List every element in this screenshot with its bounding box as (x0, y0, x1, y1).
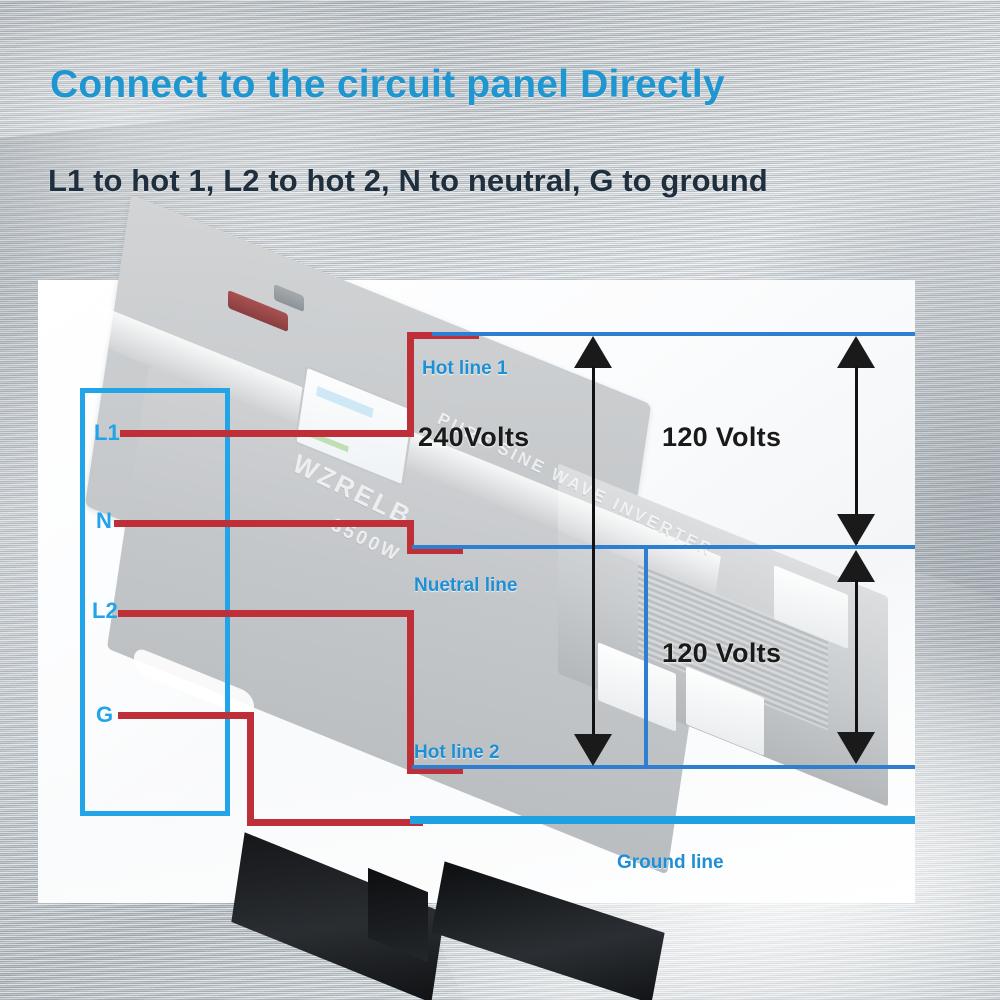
hot-line-2 (412, 765, 915, 769)
arrow-240v-down-head (574, 734, 612, 766)
arrow-120v-lower-up-head (837, 550, 875, 582)
arrow-120v-upper-down-head (837, 514, 875, 546)
terminal-label-l2: L2 (92, 598, 118, 624)
label-ground-line: Ground line (617, 852, 724, 874)
measurement-120-volts-lower: 120 Volts (662, 638, 781, 669)
wire-l1-vertical (407, 332, 414, 437)
wire-g-bottom (247, 819, 423, 826)
terminal-label-l1: L1 (94, 420, 120, 446)
label-hot-line-1: Hot line 1 (422, 358, 508, 380)
diagram-panel: WZRELB 3500W PURE SINE WAVE INVERTER L1 … (38, 280, 915, 903)
screenshot-root: Connect to the circuit panel Directly L1… (0, 0, 1000, 1000)
page-title: Connect to the circuit panel Directly (50, 63, 950, 107)
arrow-120v-lower-down-head (837, 732, 875, 764)
label-neutral-line: Nuetral line (414, 575, 517, 597)
neutral-tie-vertical (644, 545, 648, 769)
label-hot-line-2: Hot line 2 (414, 742, 500, 764)
measurement-120-volts-upper: 120 Volts (662, 422, 781, 453)
wire-l2-horizontal (118, 610, 414, 617)
wire-l1-horizontal (120, 430, 414, 437)
page-subtitle: L1 to hot 1, L2 to hot 2, N to neutral, … (48, 163, 958, 199)
arrow-120v-upper-up-head (837, 336, 875, 368)
terminal-label-n: N (96, 508, 112, 534)
wire-g-horizontal (118, 712, 254, 719)
wire-g-vertical (247, 712, 254, 826)
arrow-240v-up-head (574, 336, 612, 368)
terminal-label-g: G (96, 702, 113, 728)
ground-line (410, 816, 915, 824)
measurement-240-volts: 240Volts (418, 422, 529, 453)
wire-n-horizontal (114, 520, 414, 527)
arrow-120v-lower-stem (855, 580, 858, 736)
arrow-240v-stem (592, 366, 595, 748)
wire-l2-vertical (407, 610, 414, 774)
